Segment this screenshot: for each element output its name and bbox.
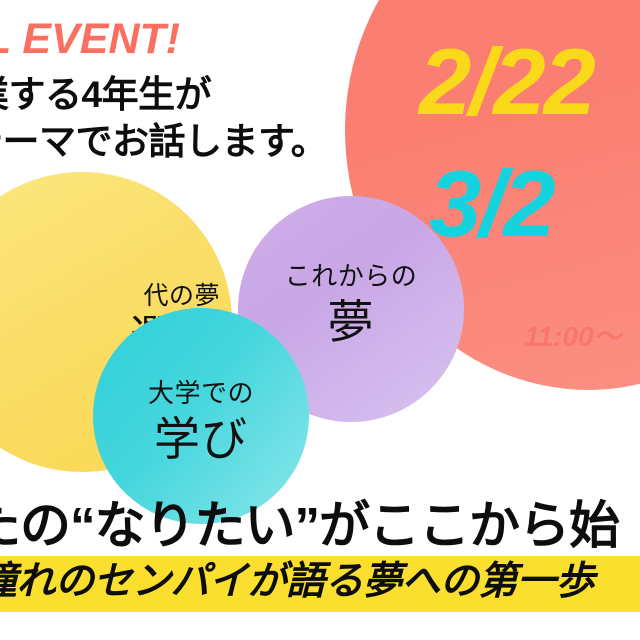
topic-bubble-cyan: 大学での 学び xyxy=(93,308,309,524)
headline-line-2: テーマでお話します。 xyxy=(0,118,420,165)
footer-subtagline: 憧れのセンパイが語る夢への第一歩 xyxy=(0,561,640,604)
event-dates: 2/22 3/2 xyxy=(419,34,594,252)
topic-bubble-cyan-title: 学び xyxy=(154,414,248,466)
headline-line-1: 業する4年生が xyxy=(0,71,420,118)
footer-tagline: たの“なりたい”がここから始 xyxy=(0,498,640,554)
topic-bubble-yellow-subtitle: 代の夢 xyxy=(143,282,220,310)
event-start-time: 11:00〜 xyxy=(524,315,622,355)
event-date-second: 3/2 xyxy=(429,156,594,252)
topic-bubble-purple-subtitle: これからの xyxy=(285,262,418,291)
event-eyebrow: IAL EVENT! xyxy=(0,18,420,61)
topic-bubble-cyan-subtitle: 大学での xyxy=(148,379,254,408)
topic-bubble-purple-title: 夢 xyxy=(328,297,375,349)
header-block: IAL EVENT! 業する4年生が テーマでお話します。 xyxy=(0,0,420,166)
footer-block: たの“なりたい”がここから始 憧れのセンパイが語る夢への第一歩 xyxy=(0,498,640,604)
event-poster: 代の夢 選び これからの 夢 大学での 学び IAL EVENT! 業する4年生… xyxy=(0,0,640,640)
event-date-first: 2/22 xyxy=(419,34,594,130)
